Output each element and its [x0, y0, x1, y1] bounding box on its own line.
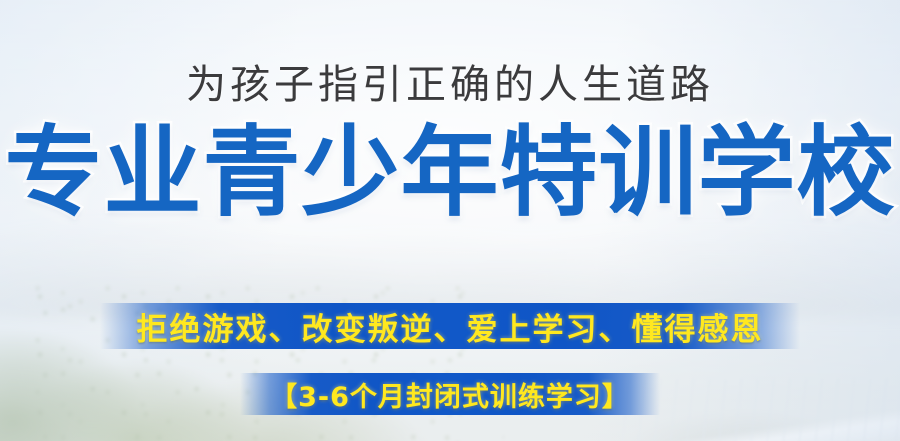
banner-headline: 专业青少年特训学校 — [0, 124, 900, 222]
benefits-text: 拒绝游戏、改变叛逆、爱上学习、懂得感恩 — [137, 304, 764, 349]
benefits-strip: 拒绝游戏、改变叛逆、爱上学习、懂得感恩 — [100, 303, 800, 349]
banner-content: 为孩子指引正确的人生道路 专业青少年特训学校 拒绝游戏、改变叛逆、爱上学习、懂得… — [0, 0, 900, 441]
duration-strip: 【3-6个月封闭式训练学习】 — [240, 373, 660, 415]
banner-subtitle: 为孩子指引正确的人生道路 — [0, 62, 900, 108]
duration-text: 【3-6个月封闭式训练学习】 — [270, 375, 630, 414]
promo-banner: 为孩子指引正确的人生道路 专业青少年特训学校 拒绝游戏、改变叛逆、爱上学习、懂得… — [0, 0, 900, 441]
